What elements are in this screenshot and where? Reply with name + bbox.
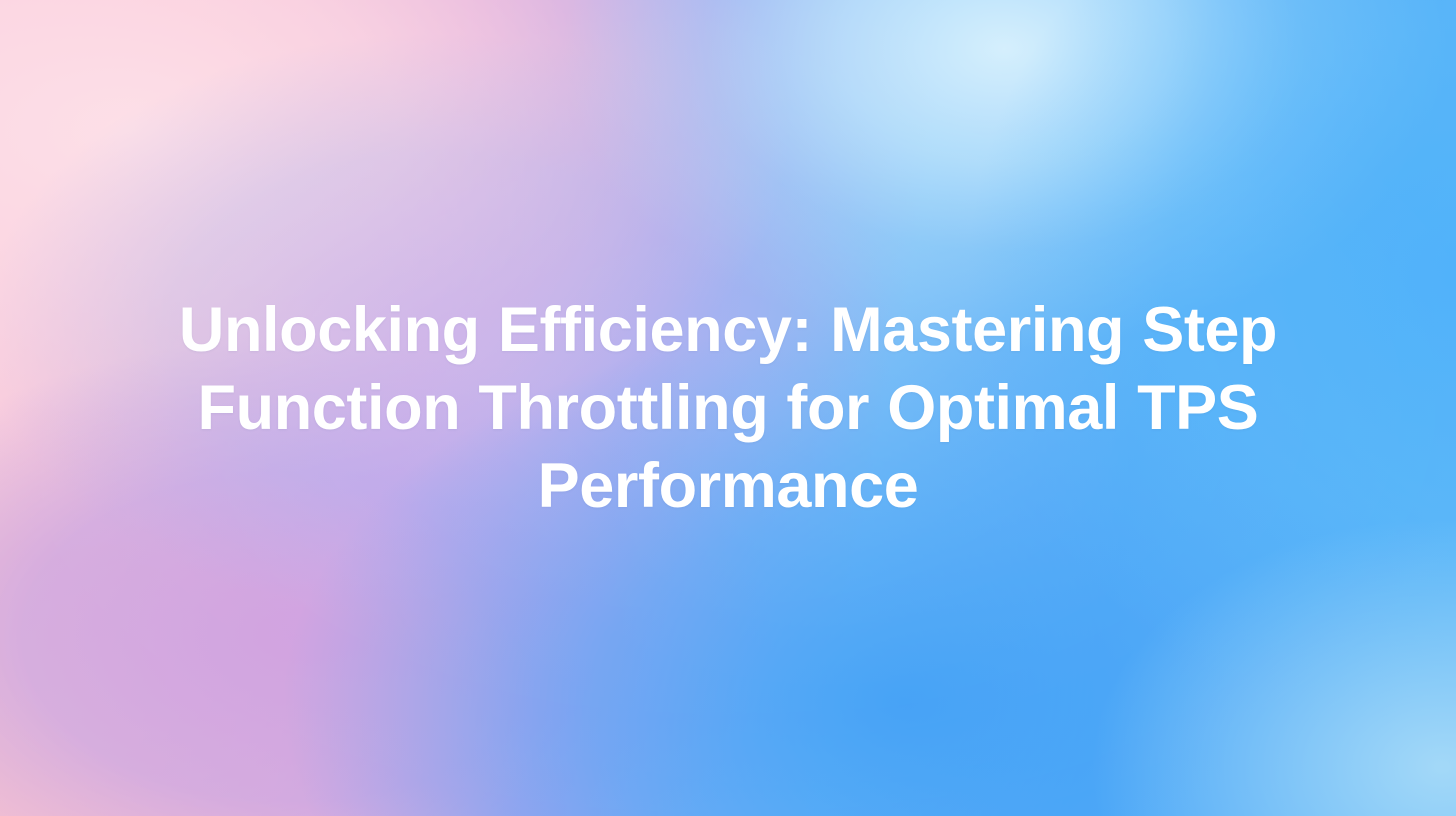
page-title: Unlocking Efficiency: Mastering Step Fun… <box>100 291 1356 525</box>
title-block: Unlocking Efficiency: Mastering Step Fun… <box>0 0 1456 816</box>
hero-title-card: Unlocking Efficiency: Mastering Step Fun… <box>0 0 1456 816</box>
